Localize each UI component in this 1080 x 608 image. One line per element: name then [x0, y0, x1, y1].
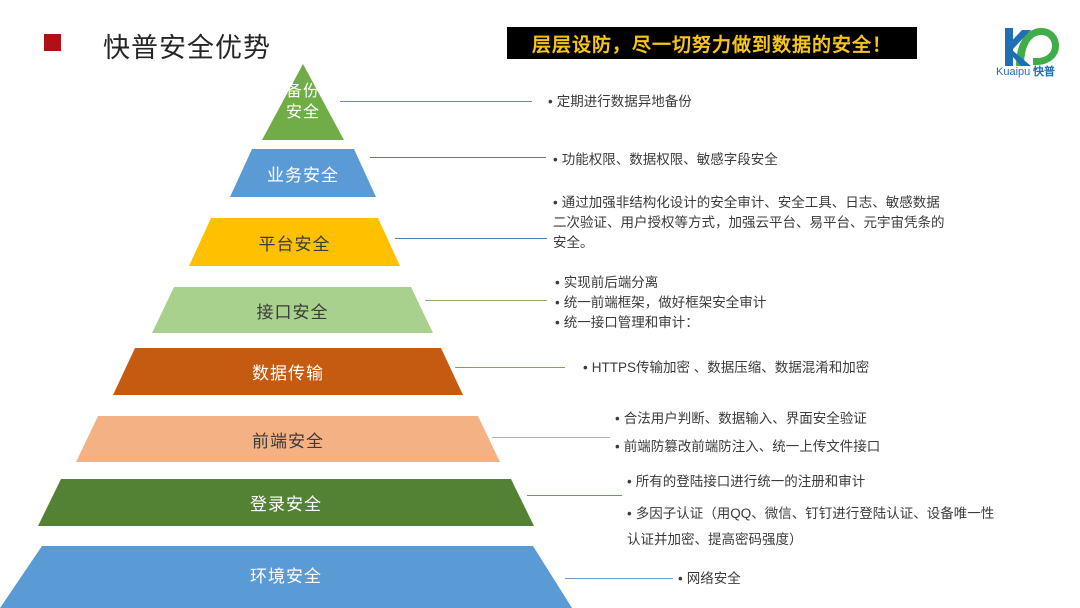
detail-line: •统一接口管理和审计：	[555, 313, 985, 333]
detail-line: •统一前端框架，做好框架安全审计	[555, 293, 985, 313]
bullet-glyph: •	[548, 94, 553, 109]
bullet-glyph: •	[583, 360, 588, 375]
detail-interface: •实现前后端分离 •统一前端框架，做好框架安全审计 •统一接口管理和审计：	[555, 273, 985, 333]
tier-label-platform: 平台安全	[259, 230, 331, 255]
detail-line: •通过加强非结构化设计的安全审计、安全工具、日志、敏感数据二次验证、用户授权等方…	[553, 193, 953, 253]
detail-line: •功能权限、数据权限、敏感字段安全	[553, 150, 983, 170]
connector-line-login	[527, 495, 622, 496]
bullet-glyph: •	[627, 474, 632, 489]
detail-frontend: •合法用户判断、数据输入、界面安全验证 •前端防篡改前端防注入、统一上传文件接口	[615, 409, 1045, 457]
pyramid-tier-backup[interactable]: 备份 安全	[262, 64, 344, 140]
tier-label-backup: 备份 安全	[286, 81, 320, 123]
detail-line: •所有的登陆接口进行统一的注册和审计	[627, 472, 997, 492]
pyramid-tier-frontend[interactable]: 前端安全	[76, 416, 500, 462]
pyramid-tier-environment[interactable]: 环境安全	[0, 546, 572, 608]
detail-platform: •通过加强非结构化设计的安全审计、安全工具、日志、敏感数据二次验证、用户授权等方…	[553, 193, 953, 253]
detail-line: •HTTPS传输加密 、数据压缩、数据混淆和加密	[583, 358, 1013, 378]
tier-label-login: 登录安全	[250, 490, 322, 515]
detail-business: •功能权限、数据权限、敏感字段安全	[553, 150, 983, 170]
tier-label-environment: 环境安全	[250, 562, 322, 587]
logo-wordmark-cn: 快普	[1032, 64, 1055, 78]
tier-label-business: 业务安全	[267, 161, 339, 186]
connector-line-environment	[565, 578, 673, 579]
tier-label-interface: 接口安全	[257, 298, 329, 323]
connector-line-backup	[340, 101, 532, 102]
tier-label-frontend: 前端安全	[252, 427, 324, 452]
bullet-glyph: •	[615, 439, 620, 454]
bullet-glyph: •	[615, 411, 620, 426]
bullet-glyph: •	[627, 506, 632, 521]
detail-backup: •定期进行数据异地备份	[548, 92, 978, 112]
pyramid-tier-platform[interactable]: 平台安全	[189, 218, 400, 266]
detail-line: •合法用户判断、数据输入、界面安全验证	[615, 409, 1045, 429]
logo-wordmark-en: Kuaipu	[996, 66, 1030, 78]
security-pyramid: 备份 安全 业务安全 平台安全 接口安全	[0, 0, 600, 608]
pyramid-tier-login[interactable]: 登录安全	[38, 479, 534, 526]
bullet-glyph: •	[553, 152, 558, 167]
connector-line-interface	[425, 300, 547, 301]
connector-line-business	[370, 157, 546, 158]
detail-transmission: •HTTPS传输加密 、数据压缩、数据混淆和加密	[583, 358, 1013, 378]
detail-line: •多因子认证（用QQ、微信、钉钉进行登陆认证、设备唯一性认证并加密、提高密码强度…	[627, 501, 997, 553]
detail-line: •前端防篡改前端防注入、统一上传文件接口	[615, 437, 1045, 457]
slide-canvas: 快普安全优势 层层设防，尽一切努力做到数据的安全！ Kuaipu 快普 备份 安…	[0, 0, 1080, 608]
detail-login: •所有的登陆接口进行统一的注册和审计 •多因子认证（用QQ、微信、钉钉进行登陆认…	[627, 472, 997, 553]
detail-line: •定期进行数据异地备份	[548, 92, 978, 112]
bullet-glyph: •	[678, 571, 683, 586]
detail-environment: •网络安全	[678, 569, 978, 589]
kuaipu-logo: Kuaipu 快普	[975, 22, 1067, 78]
pyramid-tier-business[interactable]: 业务安全	[230, 149, 376, 197]
bullet-glyph: •	[555, 315, 560, 330]
connector-line-platform	[395, 238, 547, 239]
detail-line: •实现前后端分离	[555, 273, 985, 293]
detail-line: •网络安全	[678, 569, 978, 589]
tier-label-transmission: 数据传输	[252, 359, 324, 384]
logo-mark-icon: Kuaipu 快普	[975, 22, 1067, 78]
connector-line-transmission	[455, 367, 565, 368]
pyramid-tier-transmission[interactable]: 数据传输	[113, 348, 463, 395]
bullet-glyph: •	[555, 295, 560, 310]
connector-line-frontend	[492, 437, 610, 438]
pyramid-tier-interface[interactable]: 接口安全	[152, 287, 433, 333]
bullet-glyph: •	[555, 275, 560, 290]
bullet-glyph: •	[553, 195, 558, 210]
